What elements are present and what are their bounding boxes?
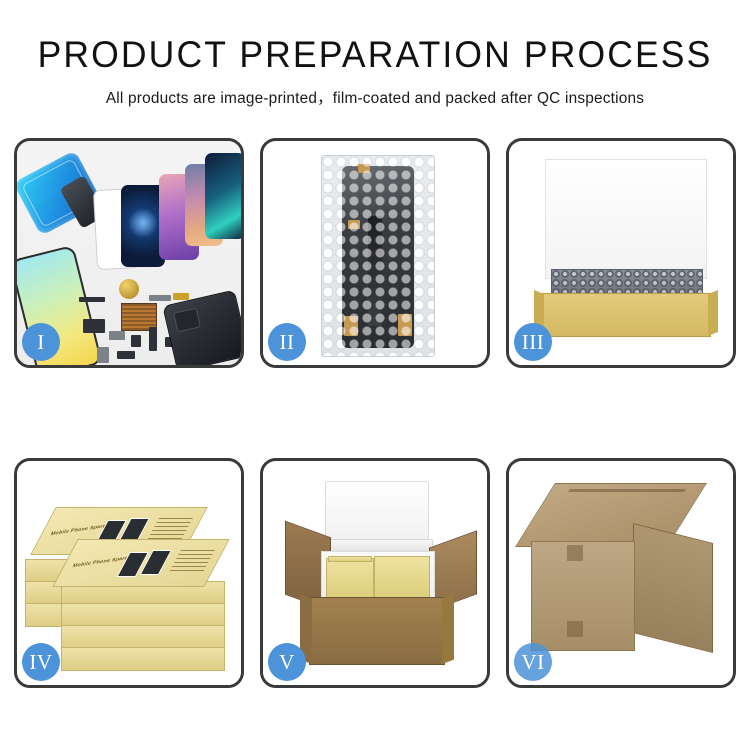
carton-front-face [531, 541, 635, 651]
antenna-part [149, 327, 157, 351]
box-white-lid [545, 159, 707, 279]
tape-piece-mid [348, 220, 360, 229]
teal-phone-display [205, 153, 241, 239]
step-panel-4: Mobile Phone Spare Parts Mobile Phone Sp… [14, 458, 244, 688]
speaker-part [119, 279, 139, 299]
page-subtitle: All products are image-printed，film-coat… [0, 86, 750, 108]
step-badge-5: V [268, 643, 306, 681]
steps-grid: I II [14, 138, 736, 688]
flex-cable-part [149, 295, 171, 301]
step-panel-1: I [14, 138, 244, 368]
header: PRODUCT PREPARATION PROCESS All products… [0, 0, 750, 108]
small-chip-part [131, 335, 141, 347]
step-panel-3: III [506, 138, 736, 368]
step-panel-2: II [260, 138, 490, 368]
bubble-wrap-bag [321, 155, 435, 357]
gold-connector-part [173, 293, 189, 300]
carton-body [309, 597, 445, 665]
box-spec-text-b [169, 550, 215, 572]
page-title: PRODUCT PREPARATION PROCESS [15, 36, 735, 75]
box-spec-text-a [147, 518, 193, 540]
inner-yellow-box-edge [328, 556, 372, 562]
bracket-part [109, 331, 125, 340]
carton-top-seam [568, 489, 686, 492]
tape-piece-bottom-left [344, 316, 358, 336]
step-panel-5: V [260, 458, 490, 688]
step-badge-4: IV [22, 643, 60, 681]
stacked-box-right-2 [61, 603, 225, 627]
stacked-box-right-0 [61, 647, 225, 671]
stacked-box-right-1 [61, 625, 225, 649]
camera-module-part [83, 319, 105, 333]
top-box-lower: Mobile Phone Spare Parts [52, 539, 230, 587]
wrapped-flex-cable [368, 216, 382, 326]
foam-box-lid [325, 481, 429, 545]
kraft-box-body [541, 293, 711, 337]
step-badge-6: VI [514, 643, 552, 681]
step-badge-1: I [22, 323, 60, 361]
inner-yellow-box-2 [374, 556, 430, 598]
carton-side-face [633, 523, 713, 653]
tape-piece-bottom-right [398, 314, 412, 336]
step-panel-6: VI [506, 458, 736, 688]
foam-box-interior [321, 551, 435, 601]
inner-yellow-box-1 [326, 558, 374, 598]
step-badge-2: II [268, 323, 306, 361]
carton-tape-lower [567, 621, 583, 637]
sim-tray-part [97, 347, 109, 363]
chip-part [79, 297, 105, 302]
box-stack: Mobile Phone Spare Parts Mobile Phone Sp… [21, 477, 237, 673]
carton-tape-upper [567, 545, 583, 561]
step-badge-3: III [514, 323, 552, 361]
tape-piece-top [358, 164, 370, 173]
screw-set-part [117, 351, 135, 359]
product-preparation-infographic: PRODUCT PREPARATION PROCESS All products… [0, 0, 750, 750]
